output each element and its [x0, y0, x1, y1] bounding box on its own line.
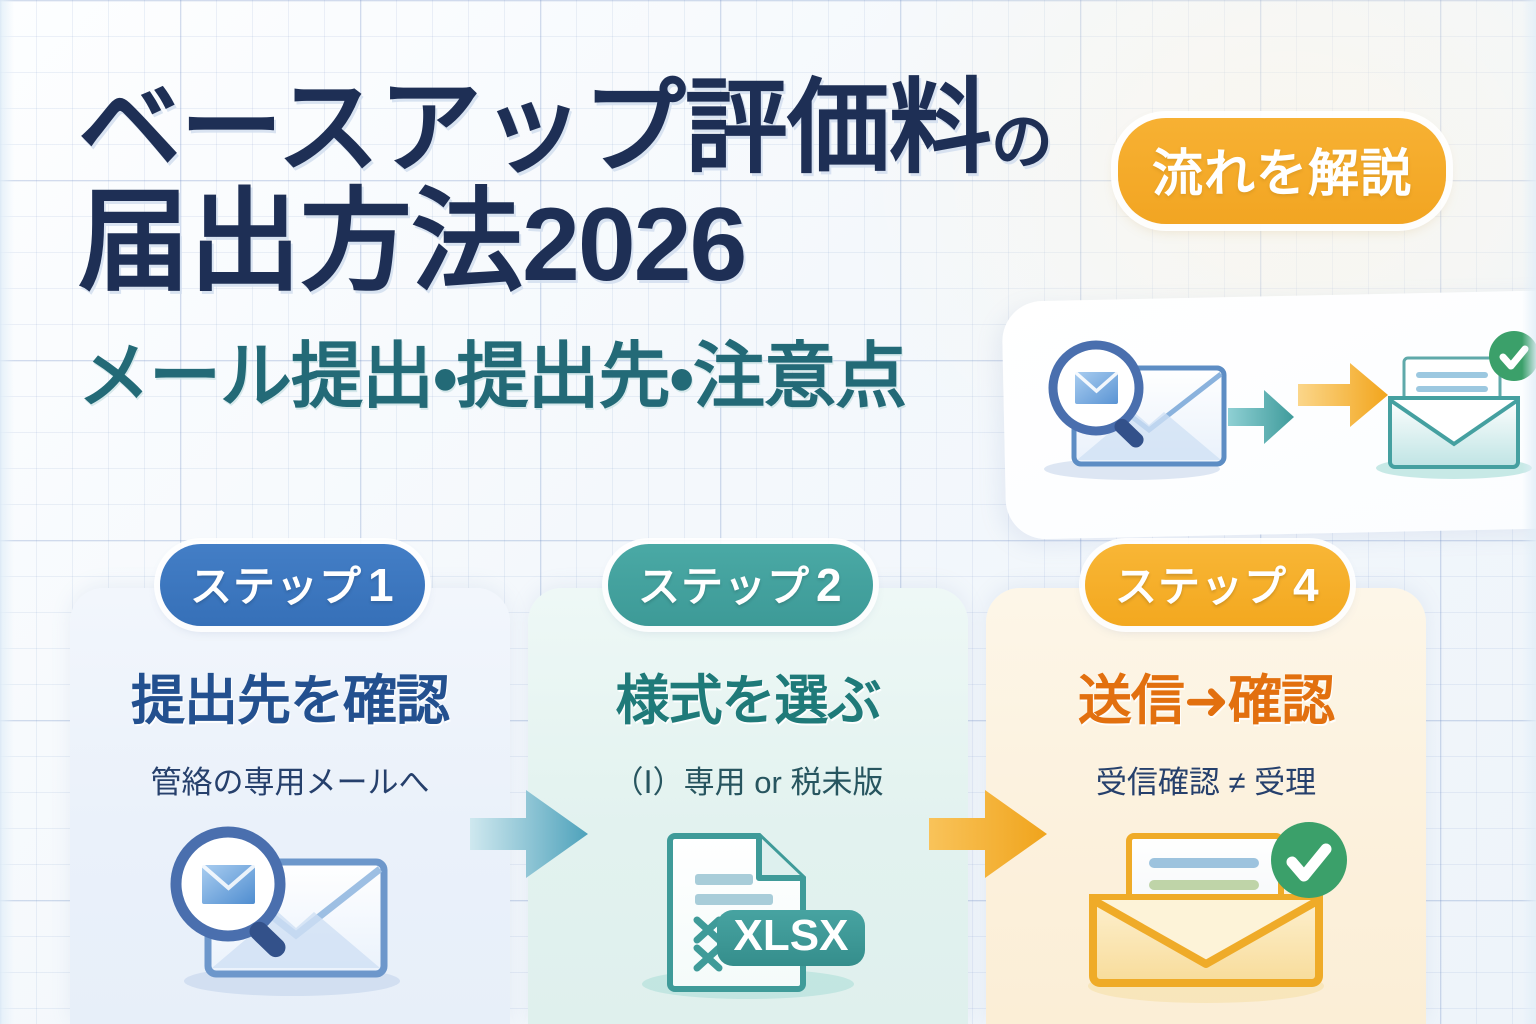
title-main-text: ベースアップ評価料 [78, 70, 991, 185]
step-3-title: 送信➜確認 [986, 656, 1426, 735]
step-badge-1-label: ステップ [190, 563, 362, 610]
title-line-2: 届出方法2026 [78, 185, 1078, 299]
step-badge-3: ステップ4 [1085, 544, 1350, 626]
steps-row: 提出先を確認 管絡の専用メールへ [0, 588, 1536, 1024]
step-badge-2-label: ステップ [638, 563, 810, 610]
step-badge-2-number: 2 [816, 559, 843, 611]
step-badge-1: ステップ1 [160, 544, 425, 626]
title-year: 2026 [522, 187, 745, 303]
step-2-title: 様式を選ぶ [528, 656, 968, 735]
step-badge-2: ステップ2 [608, 544, 873, 626]
title-particle: の [991, 108, 1052, 177]
step-badge-3-label: ステップ [1115, 563, 1287, 610]
step-1-title: 提出先を確認 [70, 656, 510, 735]
connector-arrow-2 [925, 782, 1055, 886]
connector-arrow-1 [466, 782, 596, 886]
title-method-text: 届出方法 [78, 179, 522, 304]
magnifier-envelope-icon [70, 806, 510, 1016]
page-subtitle: メール提出・提出先・注意点 [78, 317, 1078, 422]
infographic-canvas: ベースアップ評価料の 届出方法2026 メール提出・提出先・注意点 流れを解説 [0, 0, 1536, 1024]
step-1-subtitle: 管絡の専用メールへ [70, 757, 510, 802]
step-badge-1-number: 1 [368, 559, 395, 611]
step-badge-3-number: 4 [1293, 559, 1320, 611]
hero-illustration [1022, 326, 1536, 506]
ribbon-badge: 流れを解説 [1118, 118, 1446, 224]
step-card-1[interactable]: 提出先を確認 管絡の専用メールへ [70, 588, 510, 1024]
xlsx-label: XLSX [734, 911, 849, 960]
headline-block: ベースアップ評価料の 届出方法2026 メール提出・提出先・注意点 [78, 74, 1078, 422]
title-line-1: ベースアップ評価料の [78, 74, 1078, 181]
